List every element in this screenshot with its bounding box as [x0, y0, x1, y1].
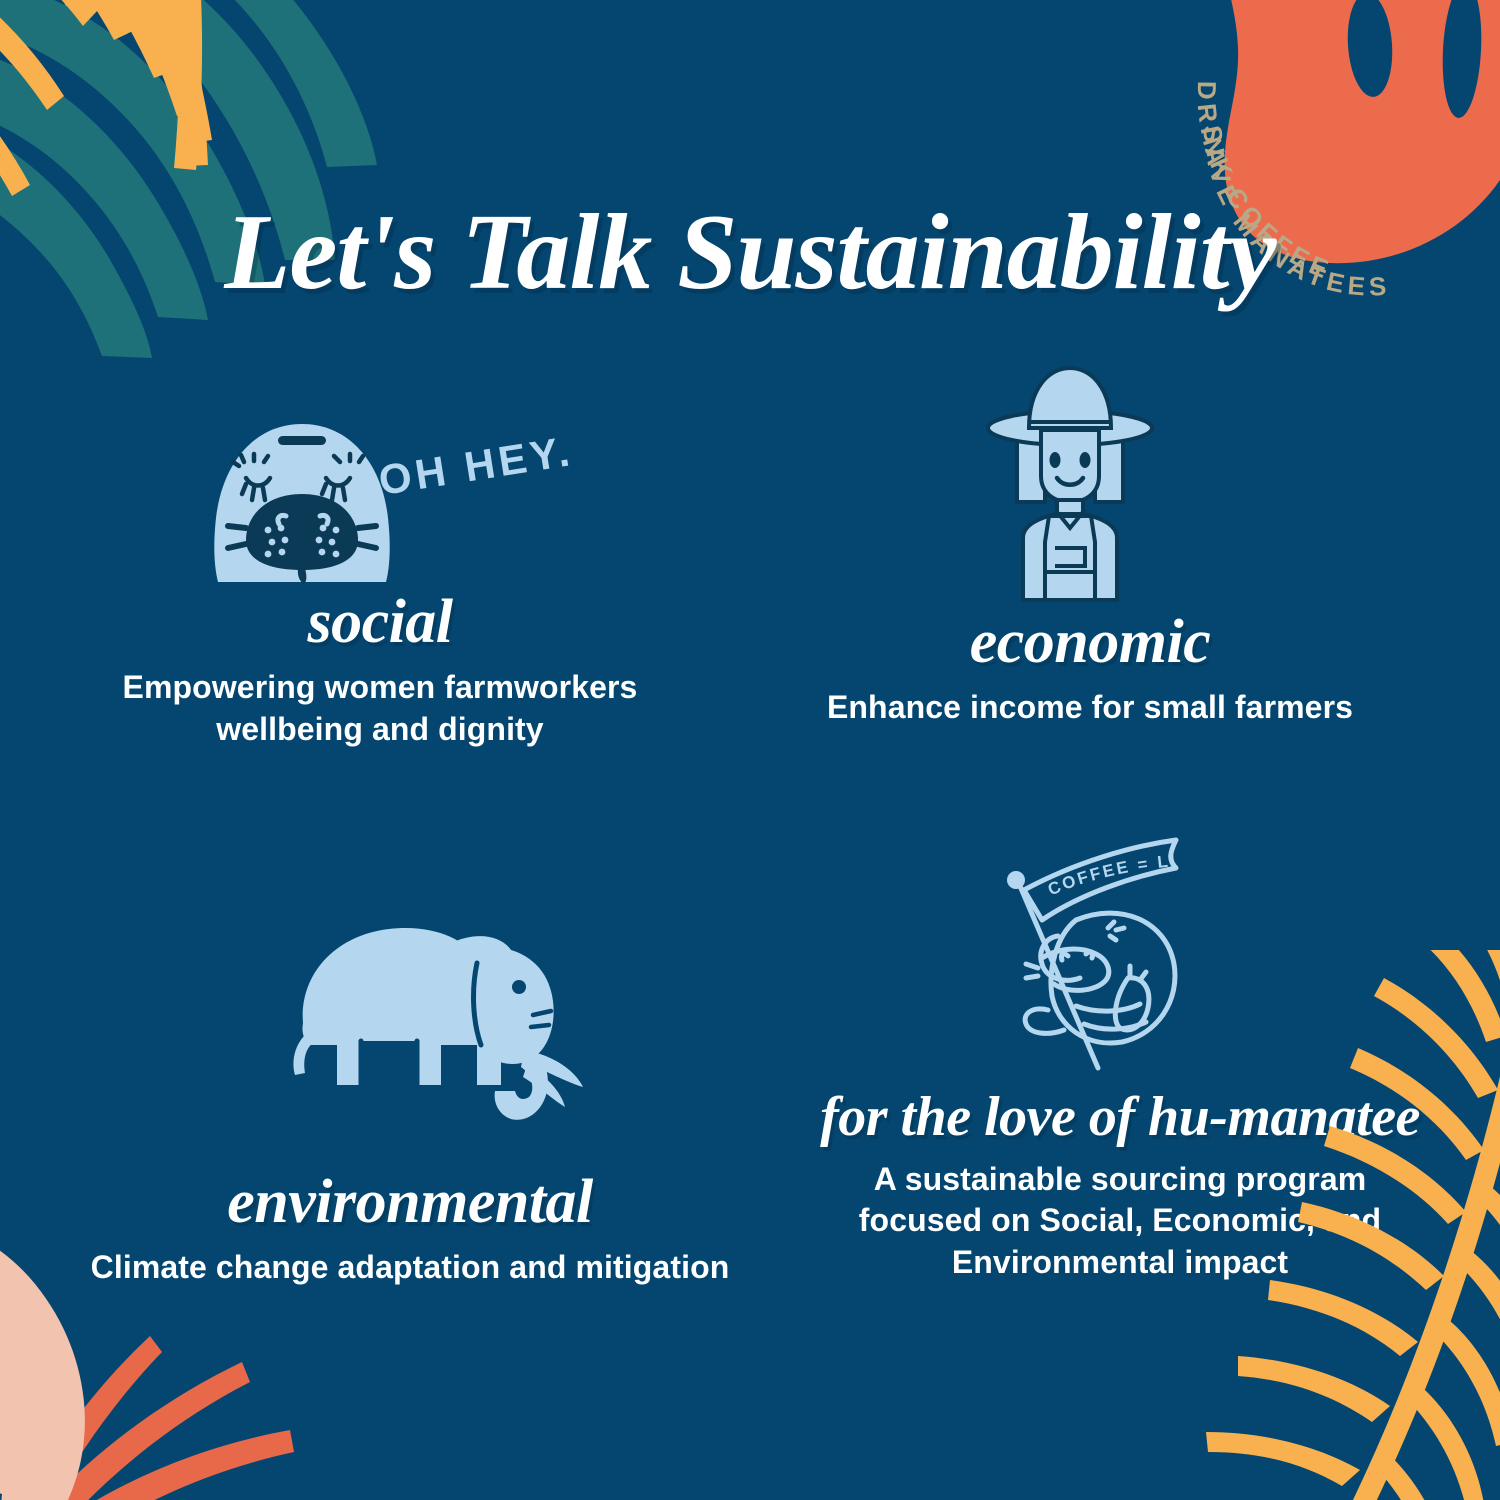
economic-body: Enhance income for small farmers	[780, 687, 1400, 729]
manatee-face-icon	[202, 418, 402, 590]
hu-manatee-text: for the love of hu-manatee A sustainable…	[820, 1088, 1420, 1284]
manatee-with-flag-icon: COFFEE = LIFE	[980, 828, 1230, 1088]
environmental-art	[40, 895, 780, 1170]
social-text: social Empowering women farmworkers well…	[90, 590, 670, 750]
elephant-icon	[265, 895, 595, 1170]
environmental-heading: environmental	[60, 1170, 760, 1235]
hu-manatee-body: A sustainable sourcing program focused o…	[820, 1159, 1420, 1284]
economic-art	[760, 360, 1460, 610]
pillar-hu-manatee: COFFEE = LIFE for the love of hu-manatee…	[790, 828, 1450, 1284]
economic-text: economic Enhance income for small farmer…	[780, 610, 1400, 729]
page-title: Let's Talk Sustainability	[0, 196, 1500, 310]
social-art	[90, 418, 790, 590]
sustainability-poster: DRINK COFFEE SAVE MANATEES Let's Talk Su…	[0, 0, 1500, 1500]
top-left-foliage	[0, 0, 500, 380]
environmental-text: environmental Climate change adaptation …	[60, 1170, 760, 1289]
environmental-body: Climate change adaptation and mitigation	[60, 1247, 760, 1289]
economic-heading: economic	[780, 610, 1400, 675]
hu-manatee-heading: for the love of hu-manatee	[820, 1088, 1420, 1147]
social-heading: social	[90, 590, 670, 655]
pillar-environmental: environmental Climate change adaptation …	[40, 895, 780, 1289]
woman-farmer-icon	[945, 360, 1195, 610]
social-body: Empowering women farmworkers wellbeing a…	[90, 667, 670, 750]
manatee-flag-art: COFFEE = LIFE	[790, 828, 1450, 1088]
pillar-economic: economic Enhance income for small farmer…	[760, 360, 1460, 729]
